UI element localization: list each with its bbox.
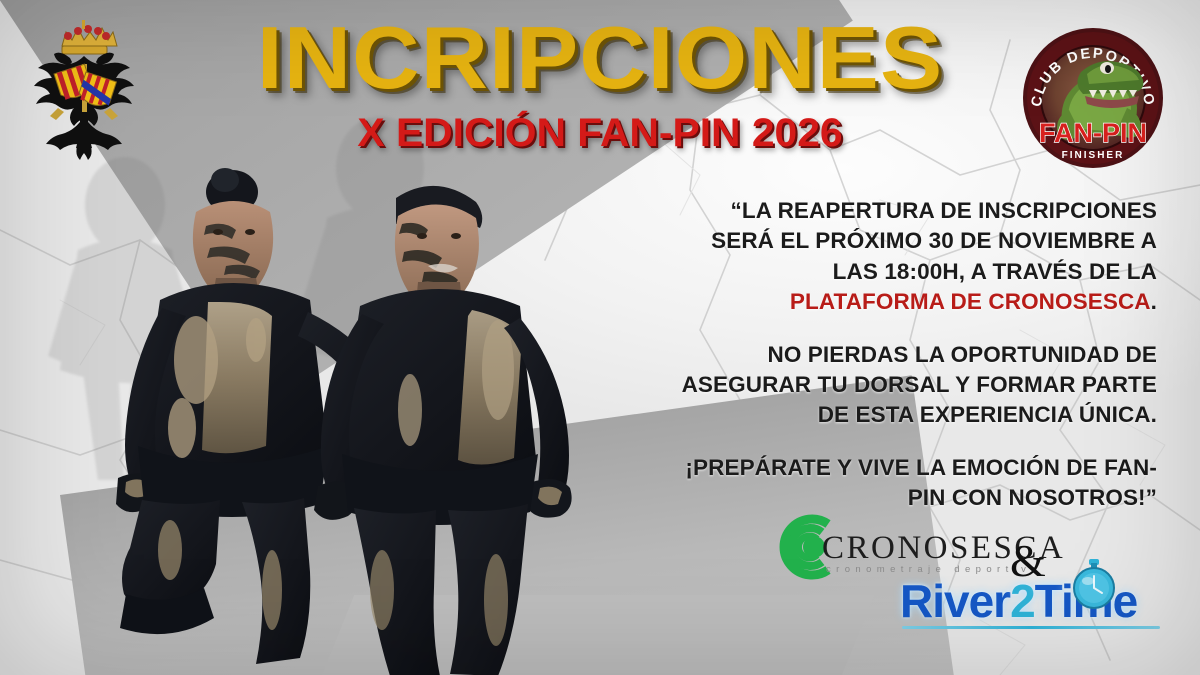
platform-highlight: PLATAFORMA DE CRONOSESCA <box>790 289 1151 314</box>
announcement-text-block: “LA REAPERTURA DE INSCRIPCIONES SERÁ EL … <box>677 196 1157 513</box>
stopwatch-icon <box>1068 558 1120 610</box>
river2time-underline <box>902 626 1160 629</box>
river2time-part-t: T <box>1035 575 1061 627</box>
river2time-logo: River2Time <box>900 574 1170 636</box>
page-subtitle: X EDICIÓN FAN-PIN 2026 <box>0 113 1200 153</box>
river2time-part-two: 2 <box>1010 575 1035 627</box>
river2time-part-river: River <box>900 575 1010 627</box>
announcement-paragraph-1: “LA REAPERTURA DE INSCRIPCIONES SERÁ EL … <box>677 196 1157 318</box>
poster-canvas: CLUB DEPORTIVO <box>0 0 1200 675</box>
announcement-paragraph-2: NO PIERDAS LA OPORTUNIDAD DE ASEGURAR TU… <box>677 340 1157 431</box>
announcement-paragraph-3: ¡PREPÁRATE Y VIVE LA EMOCIÓN DE FAN-PIN … <box>677 453 1157 514</box>
paragraph1-part1: “LA REAPERTURA DE INSCRIPCIONES SERÁ EL … <box>711 198 1157 284</box>
paragraph1-part2: . <box>1151 289 1157 314</box>
runners-photo <box>10 160 710 675</box>
page-title: INCRIPCIONES <box>0 14 1200 102</box>
sponsor-logos: CRONOSESCA cronometraje deportivo & Rive… <box>770 512 1170 637</box>
